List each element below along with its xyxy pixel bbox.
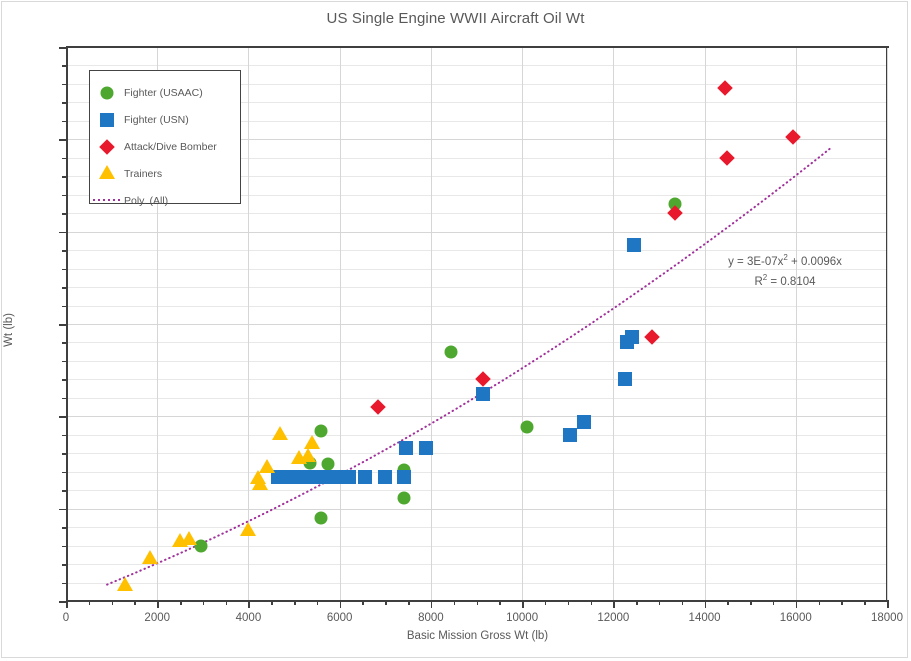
data-point-triangle[interactable] bbox=[272, 426, 288, 440]
r-squared-value: = 0.8104 bbox=[767, 276, 815, 288]
y-axis-line bbox=[66, 46, 68, 602]
y-axis-tick-minor bbox=[62, 250, 66, 252]
x-axis-tick-label: 4000 bbox=[213, 612, 283, 624]
legend-swatch-shape bbox=[101, 86, 114, 99]
data-point-square[interactable] bbox=[627, 238, 641, 252]
x-axis-tick-major bbox=[66, 601, 68, 608]
data-point-triangle[interactable] bbox=[300, 448, 316, 462]
data-point-square[interactable] bbox=[328, 470, 342, 484]
x-axis-tick-minor bbox=[591, 601, 593, 605]
x-axis-tick-minor bbox=[226, 601, 228, 605]
gridline-horizontal-minor bbox=[66, 65, 886, 66]
x-axis-tick-major bbox=[431, 601, 433, 608]
data-point-square[interactable] bbox=[577, 415, 591, 429]
x-axis-tick-label: 8000 bbox=[396, 612, 466, 624]
data-point-diamond[interactable] bbox=[720, 150, 736, 166]
data-point-triangle[interactable] bbox=[142, 550, 158, 564]
x-axis-tick-minor bbox=[454, 601, 456, 605]
chart-container: US Single Engine WWII Aircraft Oil Wt 05… bbox=[0, 0, 911, 661]
gridline-horizontal-minor bbox=[66, 453, 886, 454]
x-axis-tick-major bbox=[522, 601, 524, 608]
legend-item-label: Attack/Dive Bomber bbox=[124, 141, 217, 153]
y-axis-tick-minor bbox=[62, 435, 66, 437]
y-axis-tick-minor bbox=[62, 102, 66, 104]
y-axis-tick-minor bbox=[62, 287, 66, 289]
data-point-triangle[interactable] bbox=[117, 577, 133, 591]
y-axis-tick-minor bbox=[62, 121, 66, 123]
legend-marker-dotted-line-icon bbox=[90, 187, 124, 214]
x-axis-tick-minor bbox=[112, 601, 114, 605]
x-axis-tick-label: 16000 bbox=[761, 612, 831, 624]
gridline-horizontal-minor bbox=[66, 435, 886, 436]
gridline-horizontal-minor bbox=[66, 583, 886, 584]
x-axis-tick-minor bbox=[203, 601, 205, 605]
gridline-vertical-major bbox=[248, 47, 249, 601]
y-axis-tick-minor bbox=[62, 472, 66, 474]
gridline-horizontal-minor bbox=[66, 546, 886, 547]
x-axis-tick-minor bbox=[636, 601, 638, 605]
y-axis-tick-minor bbox=[62, 176, 66, 178]
gridline-vertical-major bbox=[613, 47, 614, 601]
y-axis-tick-minor bbox=[62, 379, 66, 381]
y-axis-tick-minor bbox=[62, 398, 66, 400]
y-axis-tick-minor bbox=[62, 453, 66, 455]
data-point-diamond[interactable] bbox=[786, 130, 802, 146]
gridline-horizontal-major bbox=[66, 509, 886, 510]
gridline-horizontal-minor bbox=[66, 472, 886, 473]
legend-item-label: Trainers bbox=[124, 168, 162, 180]
data-point-square[interactable] bbox=[419, 441, 433, 455]
x-axis-tick-minor bbox=[545, 601, 547, 605]
data-point-circle[interactable] bbox=[315, 511, 328, 524]
y-axis-title: Wt (lb) bbox=[3, 313, 15, 347]
gridline-vertical-major bbox=[887, 47, 888, 601]
data-point-square[interactable] bbox=[342, 470, 356, 484]
x-axis-tick-label: 2000 bbox=[122, 612, 192, 624]
gridline-horizontal-major bbox=[66, 324, 886, 325]
x-axis-tick-minor bbox=[134, 601, 136, 605]
x-axis-tick-major bbox=[157, 601, 159, 608]
data-point-diamond[interactable] bbox=[717, 80, 733, 96]
y-axis-tick-minor bbox=[62, 546, 66, 548]
data-point-diamond[interactable] bbox=[371, 399, 387, 415]
data-point-square[interactable] bbox=[378, 470, 392, 484]
x-axis-tick-minor bbox=[385, 601, 387, 605]
legend-item-label: Fighter (USN) bbox=[124, 114, 189, 126]
y-axis-tick-minor bbox=[62, 195, 66, 197]
legend-item-fighter-usn[interactable]: Fighter (USN) bbox=[90, 106, 240, 133]
x-axis-tick-minor bbox=[271, 601, 273, 605]
y-axis-tick-minor bbox=[62, 342, 66, 344]
gridline-horizontal-major bbox=[66, 416, 886, 417]
gridline-horizontal-minor bbox=[66, 490, 886, 491]
gridline-horizontal-minor bbox=[66, 342, 886, 343]
gridline-vertical-major bbox=[796, 47, 797, 601]
data-point-circle[interactable] bbox=[445, 345, 458, 358]
gridline-horizontal-major bbox=[66, 232, 886, 233]
x-axis-tick-minor bbox=[750, 601, 752, 605]
x-axis-tick-minor bbox=[294, 601, 296, 605]
gridline-horizontal-minor bbox=[66, 306, 886, 307]
y-axis-tick-major bbox=[59, 47, 66, 49]
y-axis-tick-major bbox=[59, 139, 66, 141]
x-axis-tick-minor bbox=[659, 601, 661, 605]
x-axis-tick-minor bbox=[568, 601, 570, 605]
data-point-circle[interactable] bbox=[397, 491, 410, 504]
x-axis-tick-minor bbox=[819, 601, 821, 605]
y-axis-tick-minor bbox=[62, 583, 66, 585]
x-axis-tick-label: 14000 bbox=[670, 612, 740, 624]
chart-legend: Fighter (USAAC)Fighter (USN)Attack/Dive … bbox=[89, 70, 241, 204]
data-point-triangle[interactable] bbox=[259, 459, 275, 473]
data-point-triangle[interactable] bbox=[181, 531, 197, 545]
legend-marker-square-icon bbox=[90, 106, 124, 133]
gridline-vertical-major bbox=[705, 47, 706, 601]
data-point-square[interactable] bbox=[476, 387, 490, 401]
data-point-square[interactable] bbox=[618, 372, 632, 386]
data-point-circle[interactable] bbox=[322, 458, 335, 471]
x-axis-tick-minor bbox=[727, 601, 729, 605]
equation-text-tail: + 0.0096x bbox=[788, 256, 842, 268]
x-axis-tick-minor bbox=[408, 601, 410, 605]
x-axis-tick-label: 10000 bbox=[487, 612, 557, 624]
x-axis-tick-minor bbox=[773, 601, 775, 605]
x-axis-tick-major bbox=[340, 601, 342, 608]
data-point-triangle[interactable] bbox=[240, 522, 256, 536]
x-axis-tick-minor bbox=[362, 601, 364, 605]
data-point-square[interactable] bbox=[397, 470, 411, 484]
x-axis-tick-minor bbox=[682, 601, 684, 605]
legend-marker-circle-icon bbox=[90, 79, 124, 106]
x-axis-tick-minor bbox=[477, 601, 479, 605]
y-axis-tick-minor bbox=[62, 361, 66, 363]
data-point-square[interactable] bbox=[563, 428, 577, 442]
y-axis-tick-major bbox=[59, 232, 66, 234]
legend-dotted-line-icon bbox=[93, 199, 123, 201]
legend-item-label: Fighter (USAAC) bbox=[124, 87, 203, 99]
data-point-diamond[interactable] bbox=[476, 372, 492, 388]
y-axis-tick-minor bbox=[62, 269, 66, 271]
x-axis-tick-label: 6000 bbox=[305, 612, 375, 624]
legend-item-poly-all[interactable]: Poly. (All) bbox=[90, 187, 240, 214]
legend-item-trainers[interactable]: Trainers bbox=[90, 160, 240, 187]
data-point-square[interactable] bbox=[399, 441, 413, 455]
x-axis-tick-label: 0 bbox=[31, 612, 101, 624]
legend-item-attack-dive-bomber[interactable]: Attack/Dive Bomber bbox=[90, 133, 240, 160]
x-axis-tick-major bbox=[705, 601, 707, 608]
x-axis-tick-minor bbox=[499, 601, 501, 605]
data-point-triangle[interactable] bbox=[252, 476, 268, 490]
y-axis-tick-minor bbox=[62, 306, 66, 308]
y-axis-tick-minor bbox=[62, 65, 66, 67]
gridline-vertical-major bbox=[431, 47, 432, 601]
chart-title: US Single Engine WWII Aircraft Oil Wt bbox=[0, 10, 911, 27]
x-axis-tick-minor bbox=[841, 601, 843, 605]
x-axis-tick-label: 12000 bbox=[578, 612, 648, 624]
r-squared-label: R bbox=[754, 276, 762, 288]
x-axis-title: Basic Mission Gross Wt (lb) bbox=[66, 630, 889, 642]
y-axis-tick-minor bbox=[62, 84, 66, 86]
x-axis-tick-minor bbox=[89, 601, 91, 605]
gridline-horizontal-minor bbox=[66, 527, 886, 528]
plot-top-border bbox=[66, 46, 889, 48]
legend-item-label: Poly. (All) bbox=[124, 195, 168, 207]
legend-swatch-shape bbox=[100, 113, 114, 127]
y-axis-tick-major bbox=[59, 416, 66, 418]
data-point-square[interactable] bbox=[625, 330, 639, 344]
x-axis-tick-minor bbox=[864, 601, 866, 605]
x-axis-tick-major bbox=[613, 601, 615, 608]
legend-swatch-shape bbox=[99, 139, 115, 155]
equation-text: y = 3E-07x bbox=[728, 256, 783, 268]
y-axis-tick-minor bbox=[62, 158, 66, 160]
y-axis-tick-minor bbox=[62, 490, 66, 492]
gridline-horizontal-minor bbox=[66, 564, 886, 565]
y-axis-tick-minor bbox=[62, 564, 66, 566]
y-axis-tick-major bbox=[59, 601, 66, 603]
gridline-horizontal-minor bbox=[66, 361, 886, 362]
x-axis-tick-minor bbox=[317, 601, 319, 605]
x-axis-tick-major bbox=[887, 601, 889, 608]
gridline-vertical-major bbox=[340, 47, 341, 601]
x-axis-tick-label: 18000 bbox=[852, 612, 911, 624]
y-axis-tick-minor bbox=[62, 213, 66, 215]
gridline-vertical-major bbox=[522, 47, 523, 601]
data-point-circle[interactable] bbox=[520, 421, 533, 434]
legend-item-fighter-usaac[interactable]: Fighter (USAAC) bbox=[90, 79, 240, 106]
legend-marker-triangle-icon bbox=[90, 160, 124, 187]
data-point-triangle[interactable] bbox=[304, 435, 320, 449]
legend-marker-diamond-icon bbox=[90, 133, 124, 160]
y-axis-tick-major bbox=[59, 324, 66, 326]
y-axis-tick-major bbox=[59, 509, 66, 511]
x-axis-tick-major bbox=[248, 601, 250, 608]
data-point-square[interactable] bbox=[358, 470, 372, 484]
y-axis-tick-minor bbox=[62, 527, 66, 529]
x-axis-tick-major bbox=[796, 601, 798, 608]
trendline-equation-annotation: y = 3E-07x2 + 0.0096x R2 = 0.8104 bbox=[690, 250, 880, 290]
r-squared-line: R2 = 0.8104 bbox=[690, 270, 880, 290]
equation-line: y = 3E-07x2 + 0.0096x bbox=[690, 250, 880, 270]
legend-swatch-shape bbox=[99, 165, 115, 179]
x-axis-tick-minor bbox=[180, 601, 182, 605]
